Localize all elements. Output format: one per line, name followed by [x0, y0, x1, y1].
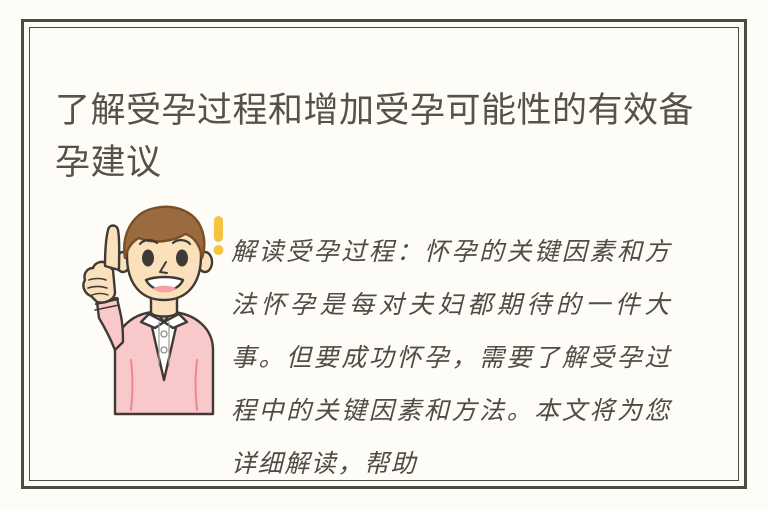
article-title: 了解受孕过程和增加受孕可能性的有效备孕建议: [55, 85, 695, 189]
exclamation-icon: [214, 216, 224, 255]
article-body-text: 解读受孕过程：怀孕的关键因素和方法怀孕是每对夫妇都期待的一件大事。但要成功怀孕，…: [231, 226, 671, 491]
card-content: 了解受孕过程和增加受孕可能性的有效备孕建议: [29, 27, 739, 481]
article-body-row: 解读受孕过程：怀孕的关键因素和方法怀孕是每对夫妇都期待的一件大事。但要成功怀孕，…: [29, 195, 739, 475]
article-card: 了解受孕过程和增加受孕可能性的有效备孕建议: [0, 0, 768, 510]
pointing-person-illustration: [61, 200, 241, 420]
